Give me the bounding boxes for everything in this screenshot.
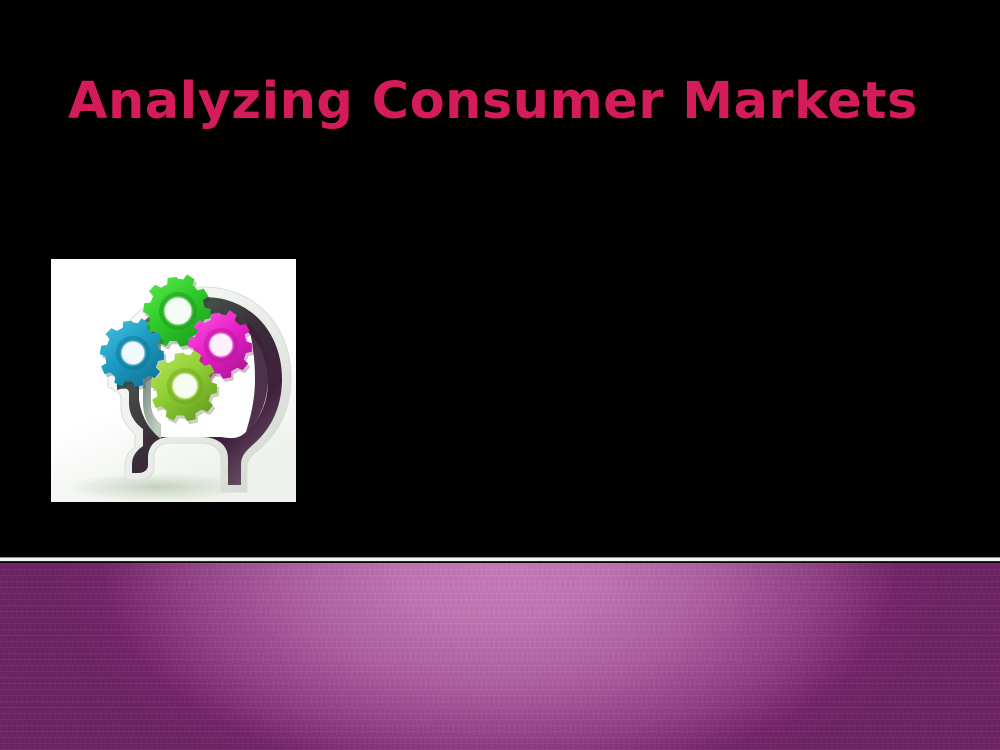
- head-with-gears-image[interactable]: [51, 259, 296, 502]
- footer-decorative-band: [0, 563, 1000, 750]
- head-with-gears-illustration: [51, 259, 296, 502]
- presentation-slide: Analyzing Consumer Markets: [0, 0, 1000, 750]
- page-title: Analyzing Consumer Markets: [68, 74, 948, 130]
- footer-divider-rule: [0, 556, 1000, 563]
